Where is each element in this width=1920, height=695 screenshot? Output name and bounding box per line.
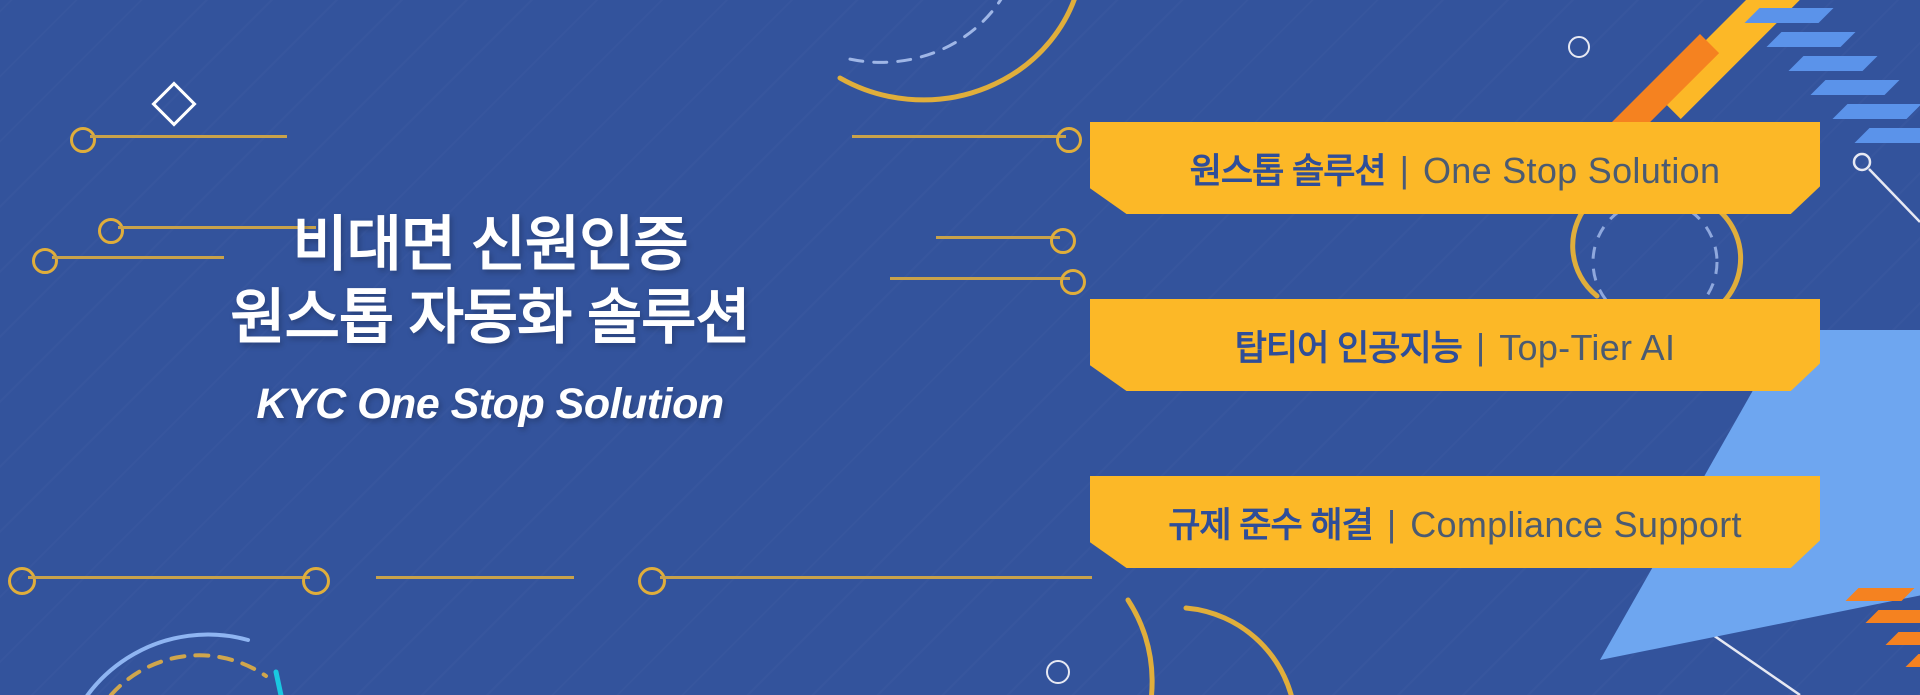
badge-inner: 규제 준수 해결 | Compliance Support [1168, 497, 1742, 548]
headline-subtitle: KYC One Stop Solution [0, 380, 980, 429]
headline-line-1: 비대면 신원인증 [0, 208, 980, 281]
feature-badge-list: 원스톱 솔루션 | One Stop Solution 탑티어 인공지능 | T… [1090, 122, 1850, 568]
badge-korean-label: 탑티어 인공지능 [1235, 320, 1462, 371]
feature-badge-compliance-support[interactable]: 규제 준수 해결 | Compliance Support [1090, 476, 1820, 568]
badge-divider: | [1400, 149, 1409, 191]
badge-english-label: Top-Tier AI [1499, 327, 1675, 369]
badge-inner: 원스톱 솔루션 | One Stop Solution [1190, 143, 1721, 194]
headline-block: 비대면 신원인증 원스톱 자동화 솔루션 KYC One Stop Soluti… [0, 208, 980, 429]
badge-inner: 탑티어 인공지능 | Top-Tier AI [1235, 320, 1676, 371]
badge-korean-label: 규제 준수 해결 [1168, 497, 1373, 548]
feature-badge-one-stop-solution[interactable]: 원스톱 솔루션 | One Stop Solution [1090, 122, 1820, 214]
badge-english-label: Compliance Support [1410, 504, 1742, 546]
badge-divider: | [1387, 503, 1396, 545]
headline-line-2: 원스톱 자동화 솔루션 [0, 281, 980, 354]
promo-banner: 비대면 신원인증 원스톱 자동화 솔루션 KYC One Stop Soluti… [0, 0, 1920, 695]
badge-divider: | [1476, 326, 1485, 368]
badge-english-label: One Stop Solution [1423, 150, 1720, 192]
feature-badge-top-tier-ai[interactable]: 탑티어 인공지능 | Top-Tier AI [1090, 299, 1820, 391]
content-layer: 비대면 신원인증 원스톱 자동화 솔루션 KYC One Stop Soluti… [0, 0, 1920, 695]
badge-korean-label: 원스톱 솔루션 [1190, 143, 1386, 194]
